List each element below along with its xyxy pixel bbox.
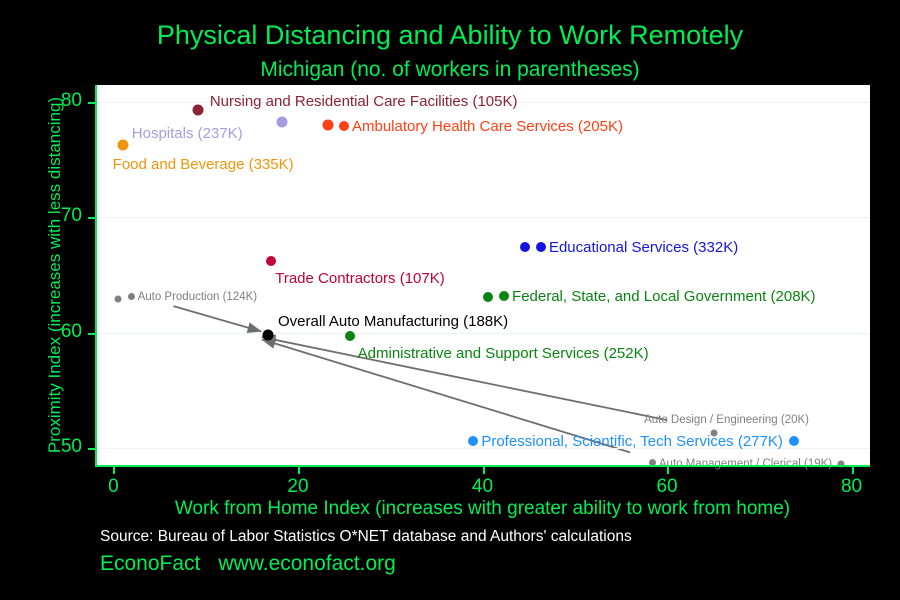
point-label-text: Trade Contractors (107K) [275, 270, 445, 287]
legend-bullet-icon [536, 242, 546, 252]
y-tick [88, 102, 96, 104]
legend-bullet-icon [499, 291, 509, 301]
y-tick-label: 60 [40, 321, 82, 343]
x-tick [483, 467, 485, 474]
data-point[interactable] [711, 429, 718, 436]
point-label-text: Overall Auto Manufacturing (188K) [278, 313, 508, 330]
y-axis-line [95, 85, 97, 466]
data-point[interactable] [262, 329, 273, 340]
data-point[interactable] [789, 436, 799, 446]
chart-canvas: Physical Distancing and Ability to Work … [0, 0, 900, 600]
y-tick [88, 217, 96, 219]
point-label: Auto Production (124K) [128, 292, 258, 304]
point-label-text: Administrative and Support Services (252… [358, 345, 649, 362]
x-tick-label: 20 [268, 476, 328, 498]
y-tick-label: 70 [40, 205, 82, 227]
point-label: Hospitals (237K) [132, 126, 243, 141]
gridline-y [95, 217, 870, 218]
point-label-text: Nursing and Residential Care Facilities … [210, 93, 518, 110]
y-tick-label: 80 [40, 90, 82, 112]
point-label: Professional, Scientific, Tech Services … [468, 434, 783, 449]
y-tick [88, 333, 96, 335]
y-tick-label: 50 [40, 436, 82, 458]
chart-subtitle: Michigan (no. of workers in parentheses) [0, 58, 900, 82]
x-tick [113, 467, 115, 474]
data-point[interactable] [117, 139, 128, 150]
chart-title: Physical Distancing and Ability to Work … [0, 20, 900, 51]
point-label: Auto Design / Engineering (20K) [644, 415, 809, 427]
brand-name: EconoFact [100, 552, 200, 575]
point-label-text: Auto Design / Engineering (20K) [644, 414, 809, 426]
data-point[interactable] [483, 292, 493, 302]
brand-footer: EconoFactwww.econofact.org [100, 552, 396, 576]
data-point[interactable] [266, 256, 276, 266]
point-label: Educational Services (332K) [536, 240, 738, 255]
point-label-text: Hospitals (237K) [132, 125, 243, 142]
point-label: Overall Auto Manufacturing (188K) [278, 314, 508, 329]
point-label: Food and Beverage (335K) [113, 157, 294, 172]
x-tick-label: 80 [822, 476, 882, 498]
point-label: Trade Contractors (107K) [275, 271, 445, 286]
y-tick [88, 448, 96, 450]
data-point[interactable] [115, 296, 122, 303]
point-label-text: Ambulatory Health Care Services (205K) [352, 118, 623, 135]
point-label-text: Auto Management / Clerical (19K) [659, 458, 832, 470]
plot-area: Nursing and Residential Care Facilities … [95, 85, 870, 465]
x-tick [298, 467, 300, 474]
annotation-arrow [173, 306, 261, 331]
legend-bullet-icon [468, 436, 478, 446]
point-label: Ambulatory Health Care Services (205K) [339, 119, 623, 134]
point-label-text: Food and Beverage (335K) [113, 156, 294, 173]
data-point[interactable] [322, 120, 333, 131]
point-label-text: Federal, State, and Local Government (20… [512, 288, 816, 305]
data-point[interactable] [277, 116, 288, 127]
x-axis-label: Work from Home Index (increases with gre… [95, 498, 870, 520]
point-label: Nursing and Residential Care Facilities … [210, 94, 518, 109]
brand-url[interactable]: www.econofact.org [218, 552, 395, 575]
point-label-text: Educational Services (332K) [549, 239, 738, 256]
x-tick-label: 0 [83, 476, 143, 498]
source-note: Source: Bureau of Labor Statistics O*NET… [100, 528, 632, 546]
legend-bullet-icon [339, 121, 349, 131]
data-point[interactable] [193, 105, 204, 116]
point-label: Administrative and Support Services (252… [358, 346, 649, 361]
data-point[interactable] [520, 242, 530, 252]
data-point[interactable] [345, 331, 355, 341]
y-axis-label: Proximity Index (increases with less dis… [45, 65, 65, 485]
gridline-y [95, 333, 870, 334]
point-label: Federal, State, and Local Government (20… [499, 289, 816, 304]
x-tick-label: 60 [637, 476, 697, 498]
x-tick-label: 40 [453, 476, 513, 498]
point-label-text: Professional, Scientific, Tech Services … [481, 433, 783, 450]
x-tick [852, 467, 854, 474]
x-tick [667, 467, 669, 474]
legend-bullet-icon [128, 293, 135, 300]
point-label-text: Auto Production (124K) [138, 291, 258, 303]
